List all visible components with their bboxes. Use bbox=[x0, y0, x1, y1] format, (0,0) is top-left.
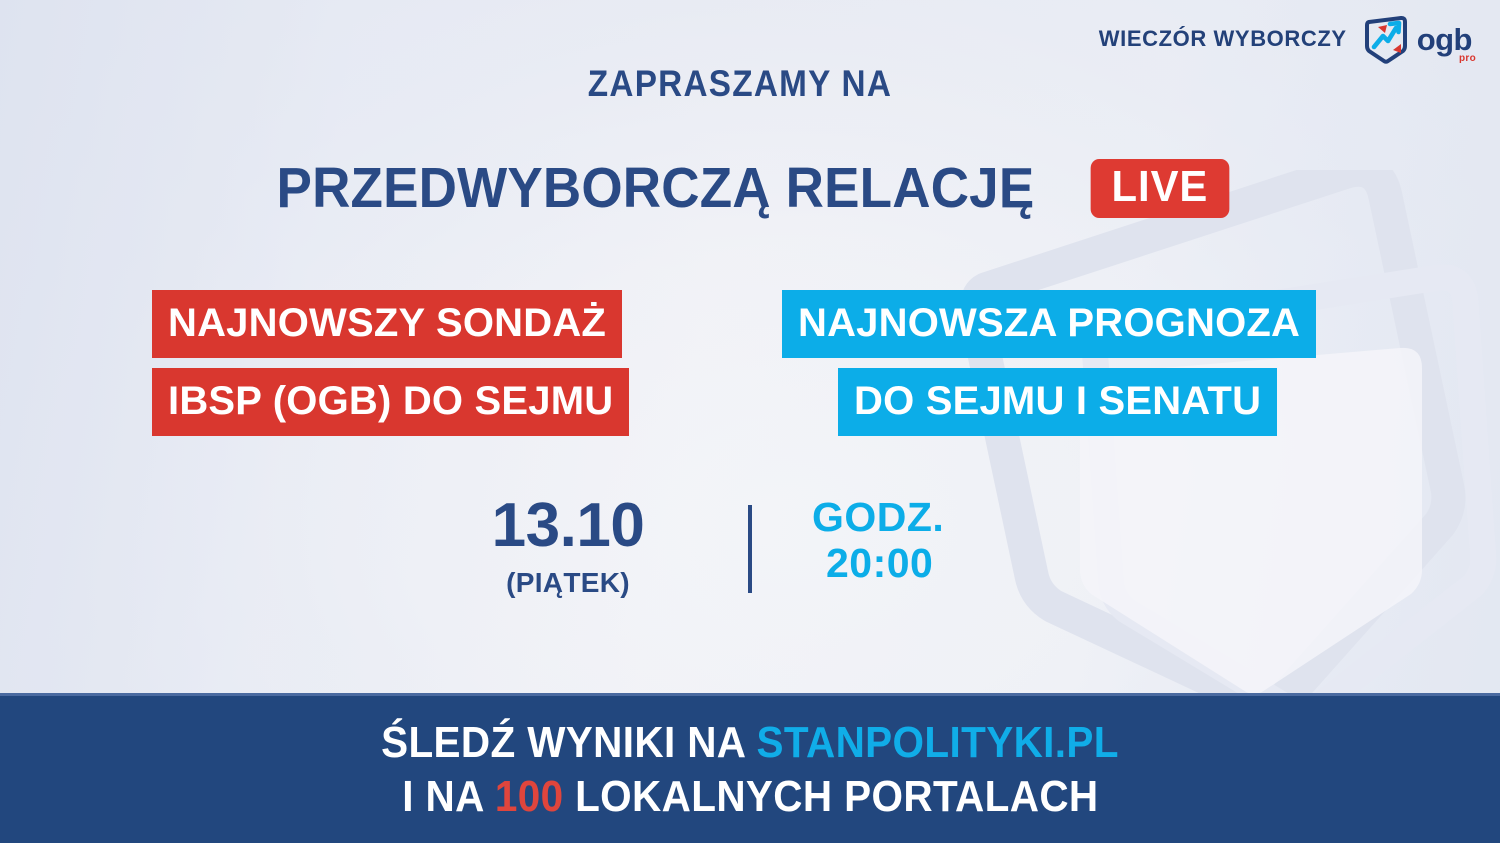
event-datetime: 13.10 (PIĄTEK) GODZ. 20:00 bbox=[0, 495, 1500, 599]
live-badge: LIVE bbox=[1090, 159, 1229, 218]
event-date-block: 13.10 (PIĄTEK) bbox=[448, 495, 748, 599]
ogb-logo[interactable]: ogb pro bbox=[1363, 14, 1474, 64]
ogb-shield-arrow-logo-icon bbox=[1363, 14, 1409, 64]
banner-latest-poll-line1: NAJNOWSZY SONDAŻ bbox=[152, 290, 622, 358]
event-time-value: 20:00 bbox=[812, 541, 1052, 587]
brand-bar: WIECZÓR WYBORCZY ogb pro bbox=[1099, 14, 1474, 64]
ogb-wordmark: ogb pro bbox=[1417, 24, 1474, 55]
brand-tagline: WIECZÓR WYBORCZY bbox=[1099, 26, 1347, 52]
headline-kicker: ZAPRASZAMY NA bbox=[74, 63, 1406, 105]
banner-latest-poll-line2: IBSP (OGB) DO SEJMU bbox=[152, 368, 629, 436]
footer-line-2: I NA 100 LOKALNYCH PORTALACH bbox=[402, 772, 1098, 821]
ogb-wordmark-text: ogb bbox=[1417, 22, 1472, 57]
footer-line2-suffix: LOKALNYCH PORTALACH bbox=[563, 772, 1098, 821]
event-day-name: (PIĄTEK) bbox=[448, 567, 688, 599]
footer-line-1: ŚLEDŹ WYNIKI NA STANPOLITYKI.PL bbox=[381, 718, 1119, 767]
banner-latest-forecast-line1: NAJNOWSZA PROGNOZA bbox=[782, 290, 1316, 358]
promo-poster: WIECZÓR WYBORCZY ogb pro ZAPRASZAMY NA P… bbox=[0, 0, 1500, 843]
footer-line1-prefix: ŚLEDŹ WYNIKI NA bbox=[381, 718, 756, 767]
event-time-label: GODZ. bbox=[812, 495, 1052, 541]
event-time-block: GODZ. 20:00 bbox=[752, 495, 1052, 599]
headline-row: PRZEDWYBORCZĄ RELACJĘ LIVE bbox=[0, 155, 1480, 221]
footer-band: ŚLEDŹ WYNIKI NA STANPOLITYKI.PL I NA 100… bbox=[0, 693, 1500, 843]
banner-latest-forecast-line2: DO SEJMU I SENATU bbox=[838, 368, 1277, 436]
footer-portal-count: 100 bbox=[494, 772, 563, 821]
headline-main: PRZEDWYBORCZĄ RELACJĘ bbox=[276, 155, 1034, 221]
ogb-pro-superscript: pro bbox=[1459, 54, 1476, 64]
footer-site-link[interactable]: STANPOLITYKI.PL bbox=[757, 718, 1119, 767]
event-date: 13.10 bbox=[448, 495, 688, 557]
footer-line2-prefix: I NA bbox=[402, 772, 495, 821]
